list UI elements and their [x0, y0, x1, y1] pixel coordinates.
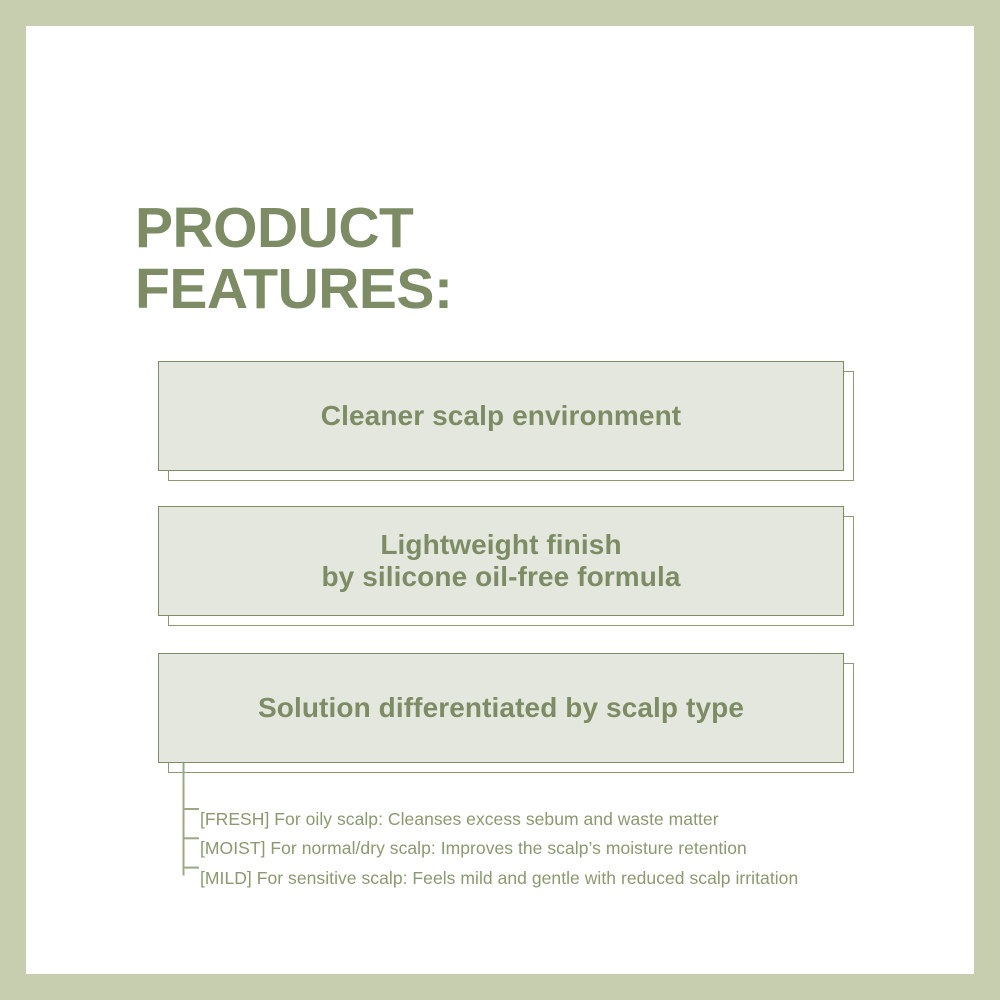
feature-card-3[interactable]: Solution differentiated by scalp type — [158, 653, 844, 763]
card-face: Lightweight finish by silicone oil-free … — [158, 506, 844, 616]
scalp-type-list: [FRESH] For oily scalp: Cleanses excess … — [200, 805, 940, 893]
feature-card-label: Lightweight finish by silicone oil-free … — [321, 529, 680, 594]
feature-card-2[interactable]: Lightweight finish by silicone oil-free … — [158, 506, 844, 616]
card-face: Solution differentiated by scalp type — [158, 653, 844, 763]
card-face: Cleaner scalp environment — [158, 361, 844, 471]
feature-card-label: Cleaner scalp environment — [321, 400, 681, 432]
feature-card-1[interactable]: Cleaner scalp environment — [158, 361, 844, 471]
list-item: [FRESH] For oily scalp: Cleanses excess … — [200, 805, 940, 834]
list-item: [MOIST] For normal/dry scalp: Improves t… — [200, 834, 940, 863]
feature-card-label: Solution differentiated by scalp type — [258, 692, 744, 724]
page-title: PRODUCT FEATURES: — [135, 198, 452, 319]
list-item: [MILD] For sensitive scalp: Feels mild a… — [200, 864, 940, 893]
